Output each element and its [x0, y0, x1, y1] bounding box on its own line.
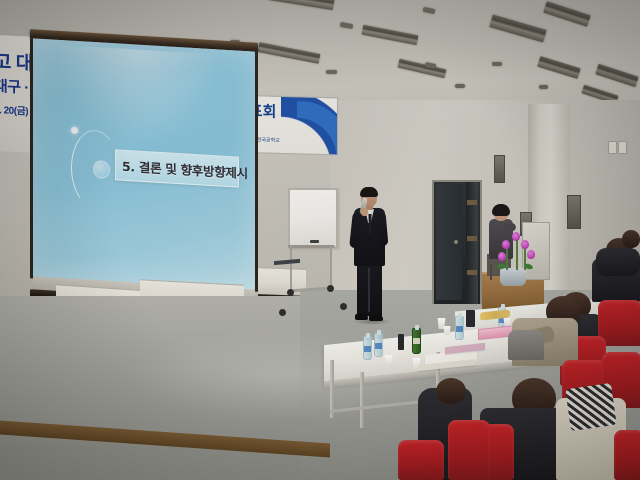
ceiling-speaker: [492, 62, 502, 66]
presenter-hair: [360, 187, 378, 197]
whiteboard-caster: [327, 285, 334, 292]
whiteboard-surface: [288, 188, 338, 248]
wall-vent: [494, 155, 505, 183]
orchid-bloom: [502, 240, 510, 249]
orchid-bloom: [527, 250, 535, 259]
whiteboard-marker[interactable]: [310, 240, 319, 243]
small-dark-object[interactable]: [398, 334, 404, 350]
screen-surface: 5. 결론 및 향후방향제시: [33, 38, 255, 289]
staff-chair-leg: [490, 264, 492, 280]
ceiling-speaker: [326, 70, 337, 74]
flower-stalk: [516, 240, 518, 270]
orchid-bloom: [512, 232, 520, 241]
projection-screen: 5. 결론 및 향후방향제시: [30, 29, 258, 313]
wall-vent: [567, 195, 581, 229]
water-bottle[interactable]: [374, 333, 383, 357]
presenter-arm-right: [376, 212, 389, 247]
auditorium-seat[interactable]: [398, 440, 444, 480]
conference-photo: 고 대 대구 · 1. 20(금) 1 발표회 표회 구대학교 한국공학교 5.…: [0, 0, 640, 480]
doorway[interactable]: [432, 180, 482, 304]
flower-vase: [500, 268, 526, 286]
auditorium-seat[interactable]: [448, 420, 490, 480]
table-leg: [360, 372, 364, 428]
presenter-leg-split: [368, 268, 370, 312]
green-beverage-bottle[interactable]: [412, 328, 421, 354]
whiteboard-leg: [290, 246, 292, 291]
bottle-label: [456, 326, 463, 332]
staff-hair: [492, 204, 510, 216]
whiteboard-pen-tray: [288, 245, 334, 248]
banner-left-line1: 고 대: [0, 47, 33, 76]
audience-body: [596, 248, 640, 276]
remote-control[interactable]: [466, 310, 475, 327]
stray-caster: [340, 303, 347, 310]
projector-hotspot: [55, 44, 222, 149]
water-bottle[interactable]: [363, 336, 372, 360]
banner-swoosh-graphic-2: [297, 101, 338, 155]
light-switch[interactable]: [608, 141, 617, 154]
presenter-shoe-left: [355, 314, 368, 320]
door-stripe: [467, 270, 477, 275]
audience-head: [436, 378, 466, 404]
audience-body: [508, 330, 544, 360]
orchid-bloom: [498, 252, 506, 261]
light-switch[interactable]: [618, 141, 627, 154]
slide-title-box: 5. 결론 및 향후방향제시: [115, 149, 239, 187]
water-bottle[interactable]: [455, 316, 464, 340]
banner-left-line2: 대구 ·: [0, 75, 29, 98]
door-stripe: [467, 200, 477, 205]
whiteboard-on-wheels: [288, 188, 334, 303]
lectern: [522, 222, 550, 280]
ceiling-speaker: [539, 85, 548, 89]
flower-stalk: [506, 246, 508, 270]
audience-head: [622, 230, 640, 248]
slide-bubble-decoration: [93, 160, 110, 179]
bottle-label: [375, 343, 382, 349]
flower-leaf: [497, 264, 506, 269]
presenter: [350, 188, 390, 328]
striped-scarf: [565, 383, 616, 431]
bottle-label: [413, 338, 420, 344]
door-handle[interactable]: [454, 240, 458, 244]
orchid-bloom: [521, 240, 529, 249]
ceiling-speaker: [455, 84, 465, 88]
presenter-hand: [361, 208, 368, 216]
bottle-label: [364, 346, 371, 352]
stray-caster: [279, 309, 286, 316]
whiteboard-caster: [287, 289, 294, 296]
slide-dot-decoration: [71, 127, 78, 134]
door-stripe: [467, 236, 477, 241]
door-panel[interactable]: [436, 184, 462, 300]
presenter-shoe-right: [369, 315, 383, 321]
auditorium-seat[interactable]: [614, 430, 640, 480]
slide-title-text: 5. 결론 및 향후방향제시: [116, 155, 248, 182]
whiteboard-base-bar: [289, 287, 331, 293]
